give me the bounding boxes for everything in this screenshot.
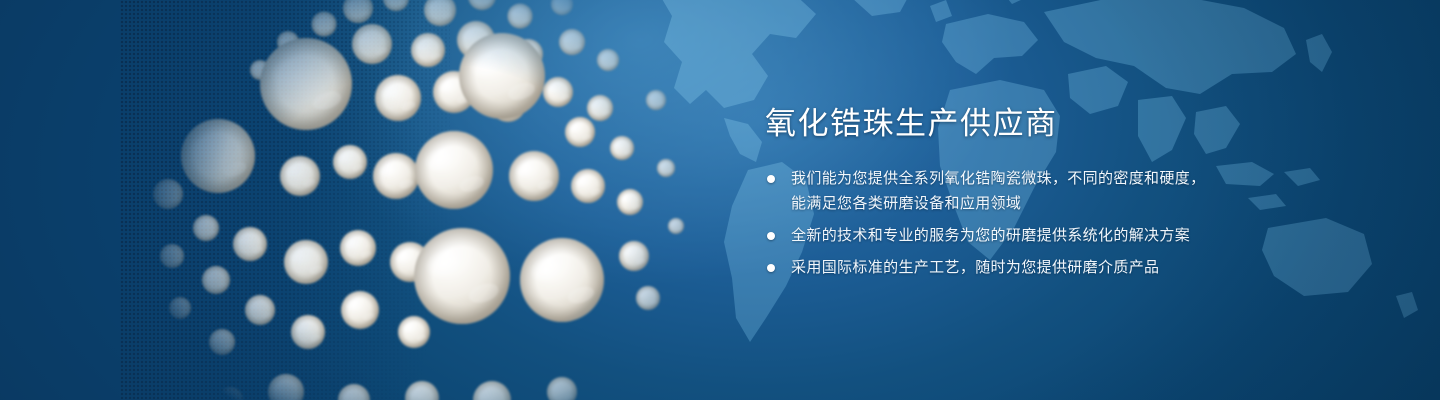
background-vignette [0, 0, 1440, 400]
hero-banner: 氧化锆珠生产供应商 我们能为您提供全系列氧化锆陶瓷微珠，不同的密度和硬度， 能满… [0, 0, 1440, 400]
